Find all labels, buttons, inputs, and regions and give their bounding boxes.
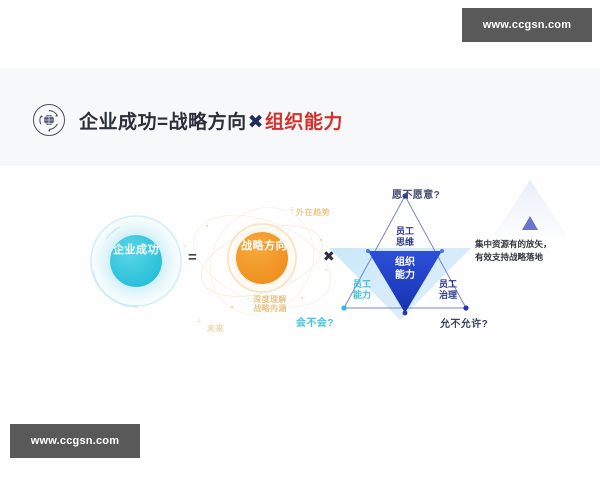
diagram-panel: = ✖ 企业成功 战略方向 外在趋势 深度理解 战略内涵 未来 愿不愿意? 会不… (30, 168, 570, 358)
globe-orbit-icon (32, 103, 66, 137)
orbit-label-line-2: 战略内涵 (237, 304, 303, 313)
orbit-label-external-trends: 外在趋势 (296, 208, 330, 217)
title-segment-primary: 企业成功=战略方向 (79, 112, 247, 133)
diagram-note-line-1: 集中资源有的放矢， (475, 238, 552, 251)
segment-label-line-2: 思维 (385, 237, 425, 248)
star-segment-employee-mindset: 员工 思维 (385, 226, 425, 249)
equals-operator: = (188, 249, 197, 266)
star-question-willing: 愿不愿意? (392, 190, 440, 202)
diagram-note-line-2: 有效支持战略落地 (475, 251, 552, 264)
page-title-row: 企业成功=战略方向✖组织能力 (32, 98, 343, 142)
node-label-line: 企业成功 (113, 244, 159, 256)
segment-label-line-1: 组织 (382, 257, 428, 270)
star-segment-employee-ability: 员工 能力 (342, 279, 382, 302)
segment-label-line-1: 员工 (342, 279, 382, 290)
star-segment-organization-capability: 组织 能力 (382, 257, 428, 282)
segment-label-line-2: 治理 (428, 290, 468, 301)
node-strategy-direction (222, 218, 302, 298)
segment-label-line-1: 员工 (428, 279, 468, 290)
slide-canvas: www.ccgsn.com 企业成功=战略方向✖组织能力 (0, 0, 600, 480)
star-question-can: 会不会? (296, 318, 334, 330)
segment-label-line-2: 能力 (382, 270, 428, 283)
node-enterprise-success (87, 212, 185, 310)
orbit-label-line-1: 深度理解 (237, 295, 303, 304)
segment-label-line-2: 能力 (342, 290, 382, 301)
node-label-strategy-direction: 战略方向 (236, 240, 292, 253)
node-label-enterprise-success: 企业成功 (108, 244, 164, 257)
segment-label-line-1: 员工 (385, 226, 425, 237)
diagram-note: 集中资源有的放矢， 有效支持战略落地 (475, 238, 552, 264)
star-question-allowed: 允不允许? (440, 319, 488, 331)
watermark-bottom: www.ccgsn.com (10, 424, 140, 458)
times-operator: ✖ (323, 248, 335, 264)
page-title: 企业成功=战略方向✖组织能力 (79, 107, 343, 134)
star-segment-employee-governance: 员工 治理 (428, 279, 468, 302)
title-segment-highlight: 组织能力 (265, 112, 343, 133)
watermark-top: www.ccgsn.com (462, 8, 592, 42)
orbit-label-deep-understanding: 深度理解 战略内涵 (237, 295, 303, 313)
title-multiply-symbol: ✖ (247, 112, 265, 133)
orbit-label-future: 未来 (207, 324, 224, 333)
node-label-line: 战略方向 (241, 240, 287, 252)
